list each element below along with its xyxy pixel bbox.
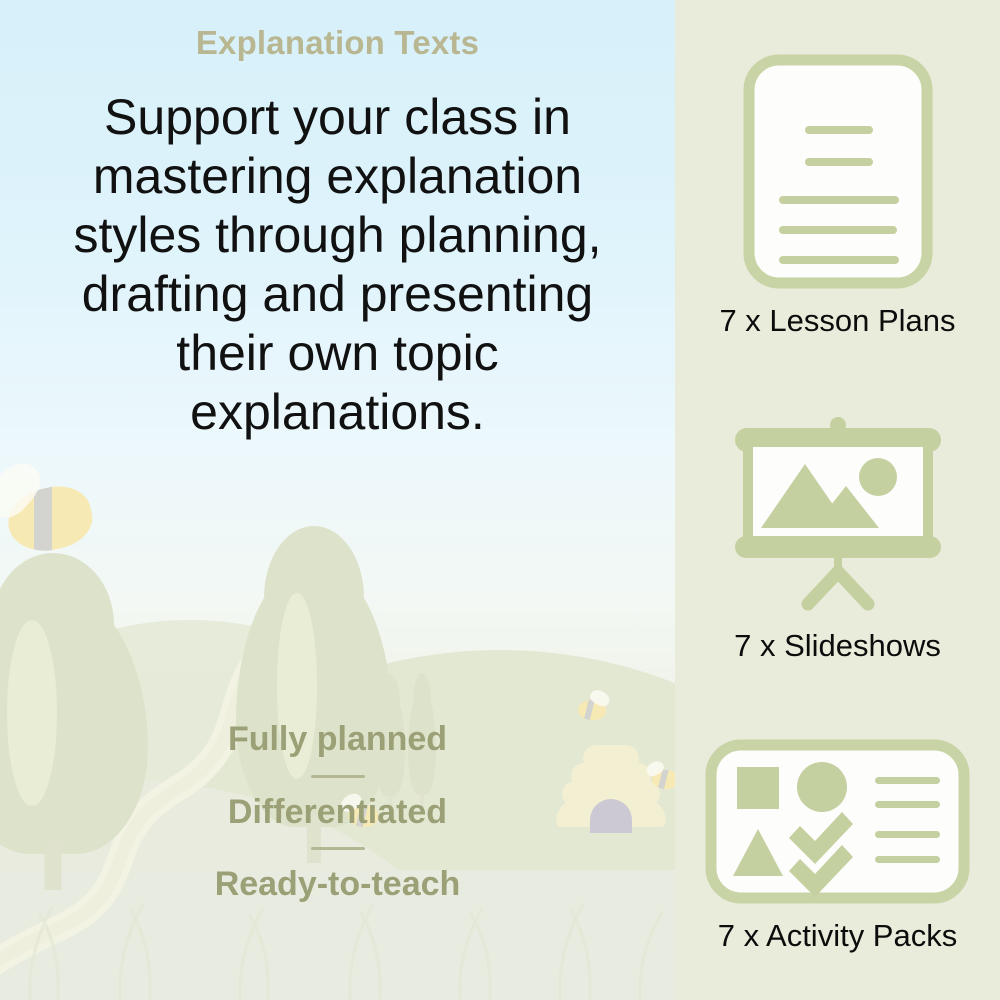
activity-card-icon	[705, 739, 970, 904]
feature-label: 7 x Lesson Plans	[719, 303, 955, 339]
left-panel: Explanation Texts Support your class in …	[0, 0, 675, 1000]
feature-activity-packs: 7 x Activity Packs	[705, 739, 970, 954]
feature-label: 7 x Activity Packs	[718, 918, 957, 954]
description-text: Support your class in mastering explanat…	[38, 88, 638, 442]
tagline-divider	[311, 775, 365, 778]
feature-slideshows: 7 x Slideshows	[713, 414, 963, 664]
tagline-fully-planned: Fully planned	[228, 718, 447, 761]
projector-screen-icon	[713, 414, 963, 614]
document-icon	[743, 54, 933, 289]
promo-poster: Explanation Texts Support your class in …	[0, 0, 1000, 1000]
left-content: Explanation Texts Support your class in …	[0, 0, 675, 1000]
feature-lesson-plans: 7 x Lesson Plans	[719, 54, 955, 339]
tagline-differentiated: Differentiated	[228, 791, 447, 834]
page-title: Explanation Texts	[196, 24, 479, 62]
tagline-list: Fully planned Differentiated Ready-to-te…	[0, 718, 675, 906]
feature-label: 7 x Slideshows	[734, 628, 941, 664]
right-panel-features: 7 x Lesson Plans	[675, 0, 1000, 1000]
tagline-ready-to-teach: Ready-to-teach	[215, 863, 461, 906]
tagline-divider	[311, 847, 365, 850]
